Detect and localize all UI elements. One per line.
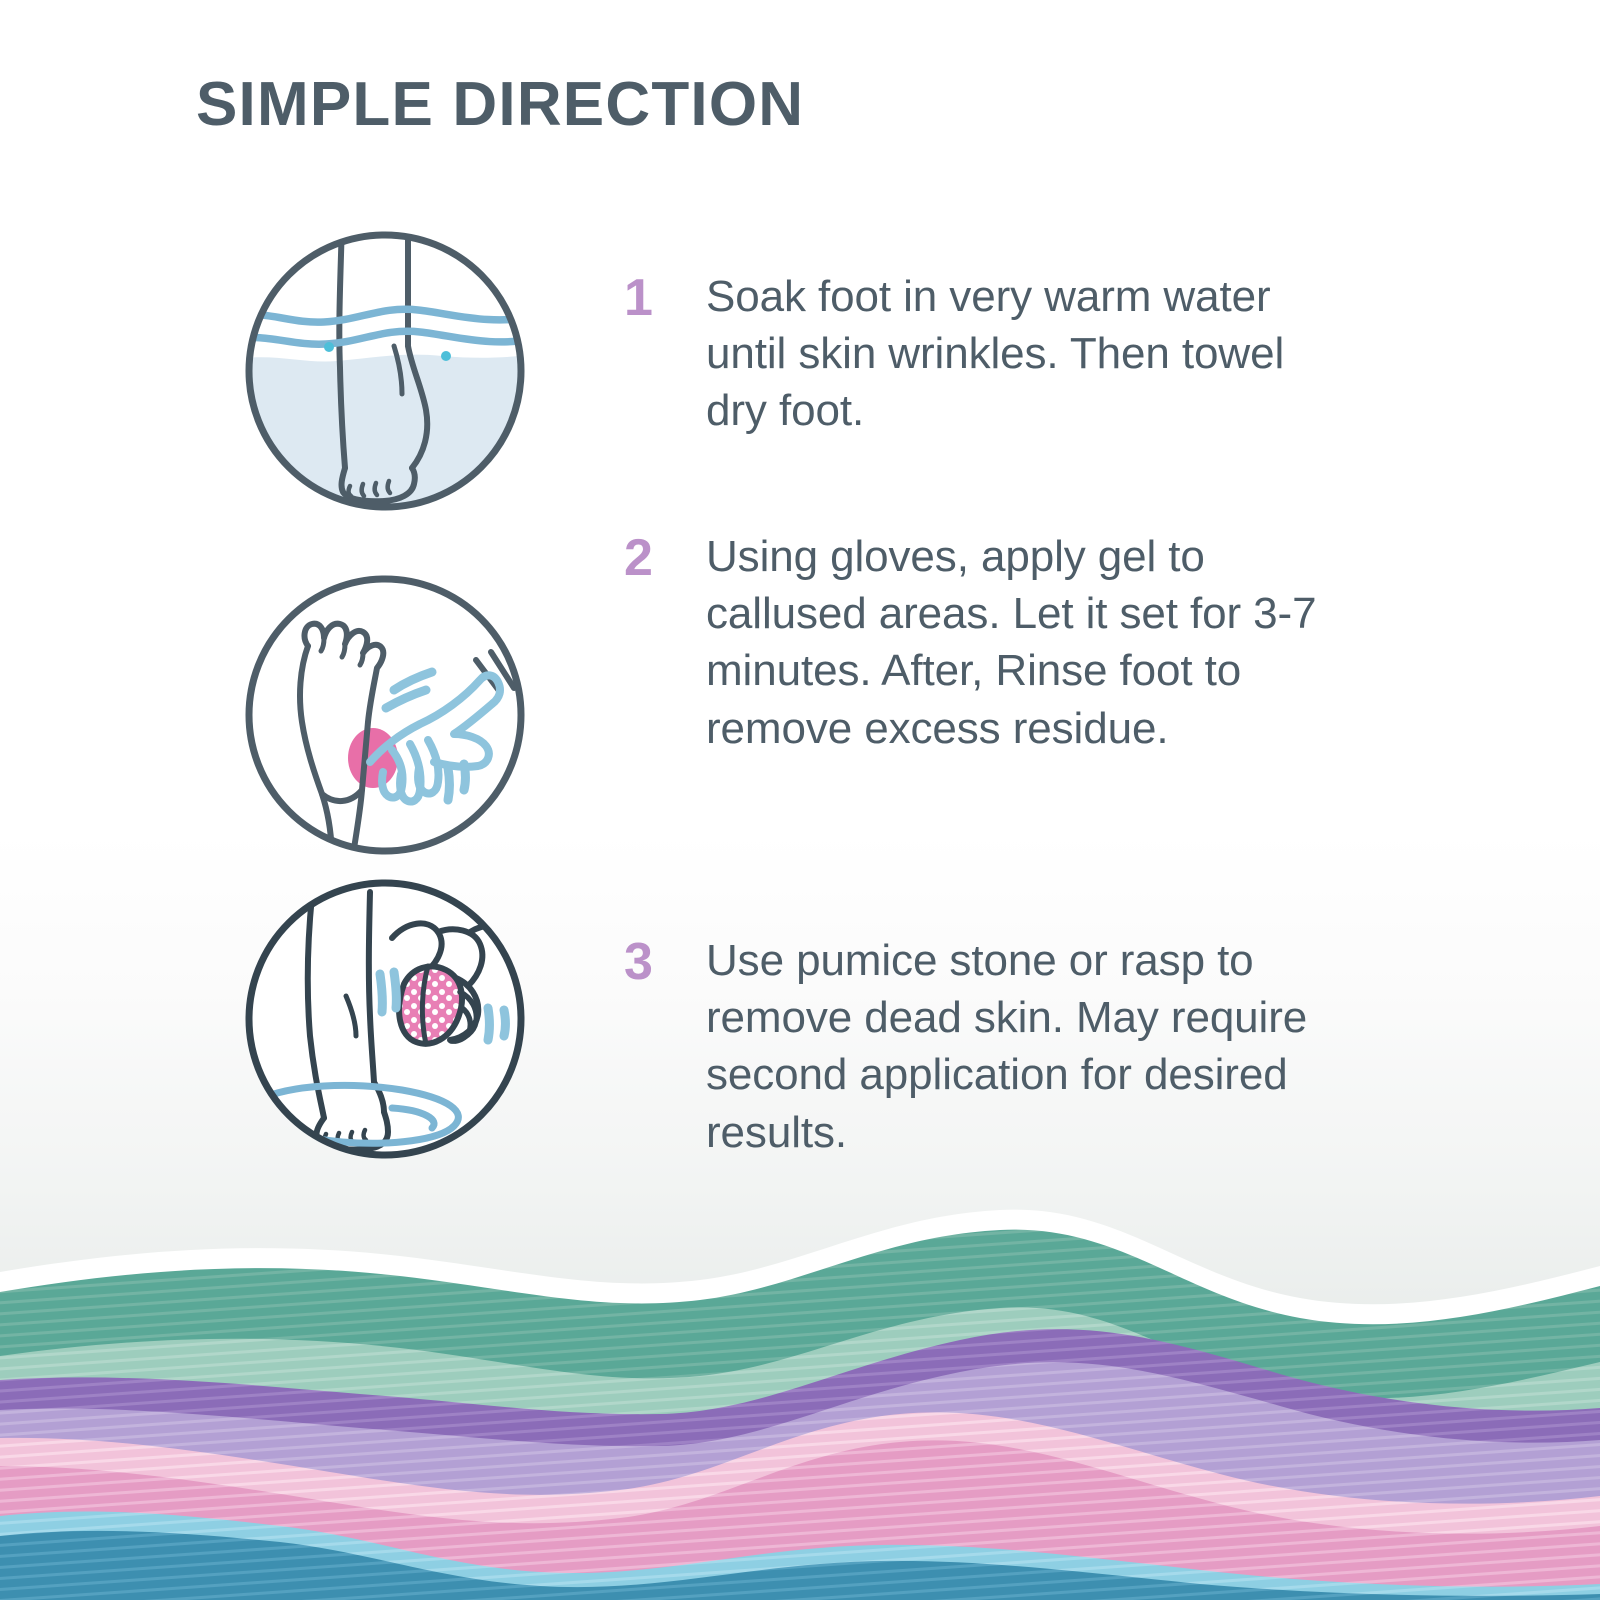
step-2: 2 Using gloves, apply gel to callused ar… [624, 528, 1324, 757]
step-2-illustration [242, 572, 528, 858]
step-2-text: Using gloves, apply gel to callused area… [706, 528, 1324, 757]
step-3-illustration [242, 876, 528, 1162]
page-title: SIMPLE DIRECTION [196, 74, 804, 136]
step-1-number: 1 [624, 268, 670, 329]
infographic-page: SIMPLE DIRECTION [0, 0, 1600, 1600]
layered-wave-footer [0, 1180, 1600, 1600]
step-3-text: Use pumice stone or rasp to remove dead … [706, 932, 1364, 1161]
step-1-illustration [242, 228, 528, 514]
step-3: 3 Use pumice stone or rasp to remove dea… [624, 932, 1364, 1161]
step-1: 1 Soak foot in very warm water until ski… [624, 268, 1324, 440]
step-3-number: 3 [624, 932, 670, 993]
step-1-text: Soak foot in very warm water until skin … [706, 268, 1324, 440]
step-2-number: 2 [624, 528, 670, 589]
